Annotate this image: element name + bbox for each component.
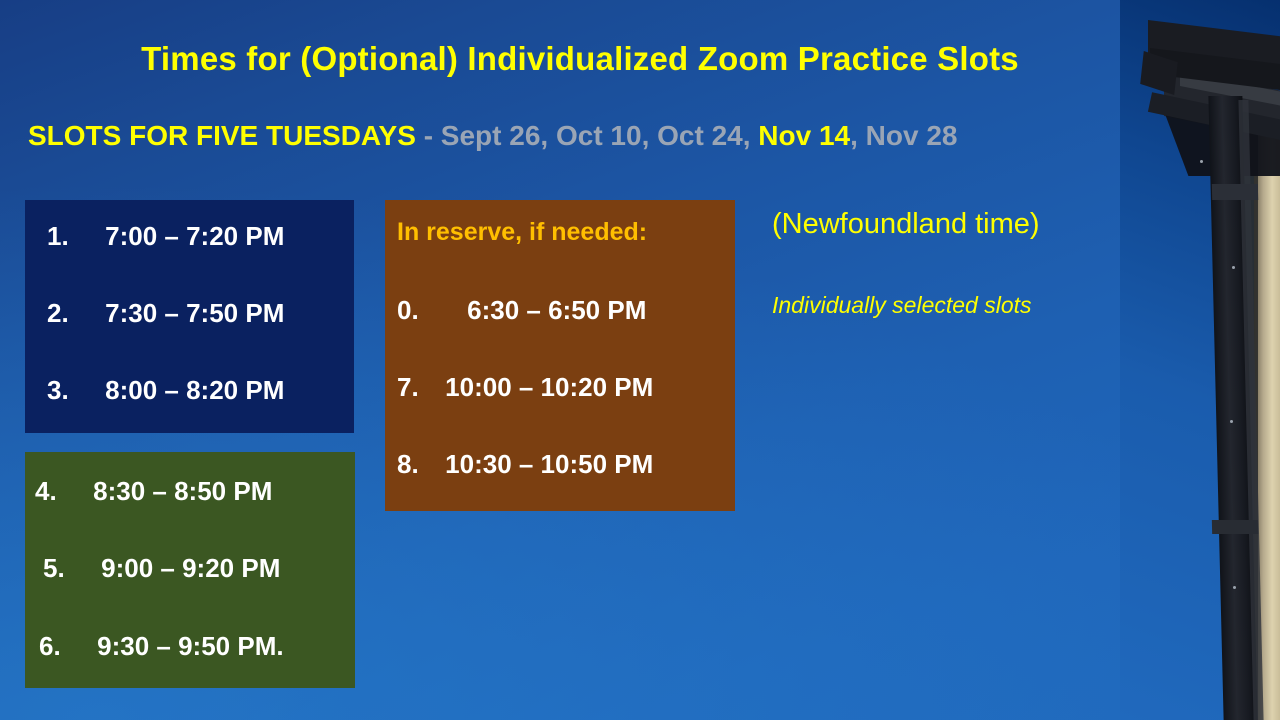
slot-time: 7:30 – 7:50 PM (105, 298, 284, 328)
slot-number: 7. (397, 372, 419, 403)
slot-row: 0. 6:30 – 6:50 PM (397, 295, 646, 326)
building-eave-photo (1120, 0, 1280, 720)
slot-row: 6. 9:30 – 9:50 PM. (39, 631, 284, 662)
brown-reserve-box: In reserve, if needed: 0. 6:30 – 6:50 PM… (385, 200, 735, 511)
slot-number: 8. (397, 449, 419, 480)
screw-head (1230, 420, 1233, 423)
subtitle-dates-line: SLOTS FOR FIVE TUESDAYS - Sept 26, Oct 1… (28, 120, 958, 152)
slot-row: 2. 7:30 – 7:50 PM (47, 298, 284, 329)
reserve-heading: In reserve, if needed: (397, 218, 647, 247)
slide-title: Times for (Optional) Individualized Zoom… (0, 40, 1160, 78)
subtitle-date-highlight: Nov 14 (758, 120, 850, 151)
slot-time: 7:00 – 7:20 PM (105, 221, 284, 251)
slot-time: 9:30 – 9:50 PM. (97, 631, 283, 661)
slot-time: 8:00 – 8:20 PM (105, 375, 284, 405)
slot-number: 2. (47, 298, 69, 329)
screw-head (1232, 266, 1235, 269)
slot-time: 6:30 – 6:50 PM (467, 295, 646, 325)
slot-row: 4. 8:30 – 8:50 PM (35, 476, 272, 507)
navy-slot-box: 1. 7:00 – 7:20 PM 2. 7:30 – 7:50 PM 3. 8… (25, 200, 354, 433)
slot-number: 1. (47, 221, 69, 252)
slot-time: 9:00 – 9:20 PM (101, 553, 280, 583)
slide-canvas: Times for (Optional) Individualized Zoom… (0, 0, 1280, 720)
subtitle-dates-after: , Nov 28 (850, 120, 957, 151)
slot-row: 1. 7:00 – 7:20 PM (47, 221, 284, 252)
slot-number: 5. (43, 553, 65, 584)
green-slot-box: 4. 8:30 – 8:50 PM 5. 9:00 – 9:20 PM 6. 9… (25, 452, 355, 688)
screw-head (1233, 586, 1236, 589)
downspout-joint-upper (1212, 184, 1258, 200)
slot-row: 8. 10:30 – 10:50 PM (397, 449, 653, 480)
slot-row: 3. 8:00 – 8:20 PM (47, 375, 284, 406)
slot-row: 7. 10:00 – 10:20 PM (397, 372, 653, 403)
timezone-note: (Newfoundland time) (772, 208, 1040, 241)
slot-number: 3. (47, 375, 69, 406)
slot-row: 5. 9:00 – 9:20 PM (43, 553, 280, 584)
downspout-joint-lower (1212, 520, 1258, 534)
slot-number: 6. (39, 631, 61, 662)
subtitle-lead: SLOTS FOR FIVE TUESDAYS (28, 120, 416, 151)
selection-note: Individually selected slots (772, 292, 1032, 319)
slot-time: 8:30 – 8:50 PM (93, 476, 272, 506)
screw-head (1200, 160, 1203, 163)
slot-number: 0. (397, 295, 419, 326)
slot-time: 10:30 – 10:50 PM (445, 449, 653, 479)
subtitle-dates-before: - Sept 26, Oct 10, Oct 24, (424, 120, 751, 151)
slot-time: 10:00 – 10:20 PM (445, 372, 653, 402)
slot-number: 4. (35, 476, 57, 507)
